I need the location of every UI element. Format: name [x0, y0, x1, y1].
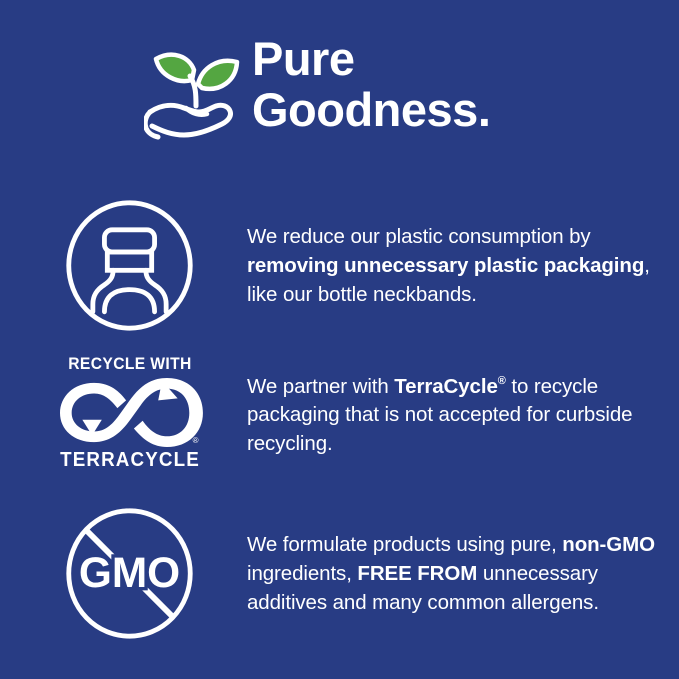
page-title: Pure Goodness. — [252, 33, 672, 135]
bottle-neckband-icon — [52, 190, 207, 340]
no-gmo-icon: GMO — [52, 498, 207, 648]
page-title-line-1: Pure — [252, 33, 672, 84]
terracycle-logo-top-text: RECYCLE WITH — [61, 354, 199, 374]
terracycle-registered-mark: ® — [193, 436, 199, 445]
claim-row-gmo: GMO We formulate products using pure, no… — [0, 498, 679, 648]
terracycle-logo-icon: RECYCLE WITH ® TERRACYCLE — [52, 348, 207, 478]
claim-text-terracycle-wrapper: We partner with TerraCycle® to recycle p… — [247, 348, 667, 478]
claim-text-terracycle: We partner with TerraCycle® to recycle p… — [247, 368, 667, 459]
claim-row-terracycle: RECYCLE WITH ® TERRACYCLE — [0, 348, 679, 478]
pure-goodness-infographic: Pure Goodness. We reduce our plastic con… — [0, 0, 679, 679]
hand-holding-plant-icon — [144, 34, 256, 146]
claim-text-plastic-wrapper: We reduce our plastic consumption by rem… — [247, 190, 667, 340]
claim-row-plastic: We reduce our plastic consumption by rem… — [0, 190, 679, 340]
terracycle-logo-bottom-text: TERRACYCLE — [59, 449, 200, 472]
gmo-label: GMO — [79, 549, 180, 596]
claim-text-gmo-wrapper: We formulate products using pure, non-GM… — [247, 498, 667, 648]
claim-text-plastic: We reduce our plastic consumption by rem… — [247, 222, 667, 309]
terracycle-infinity-loop-icon: ® — [55, 377, 205, 447]
claim-text-gmo: We formulate products using pure, non-GM… — [247, 530, 667, 617]
header: Pure Goodness. — [0, 0, 679, 175]
page-title-line-2: Goodness. — [252, 84, 672, 135]
